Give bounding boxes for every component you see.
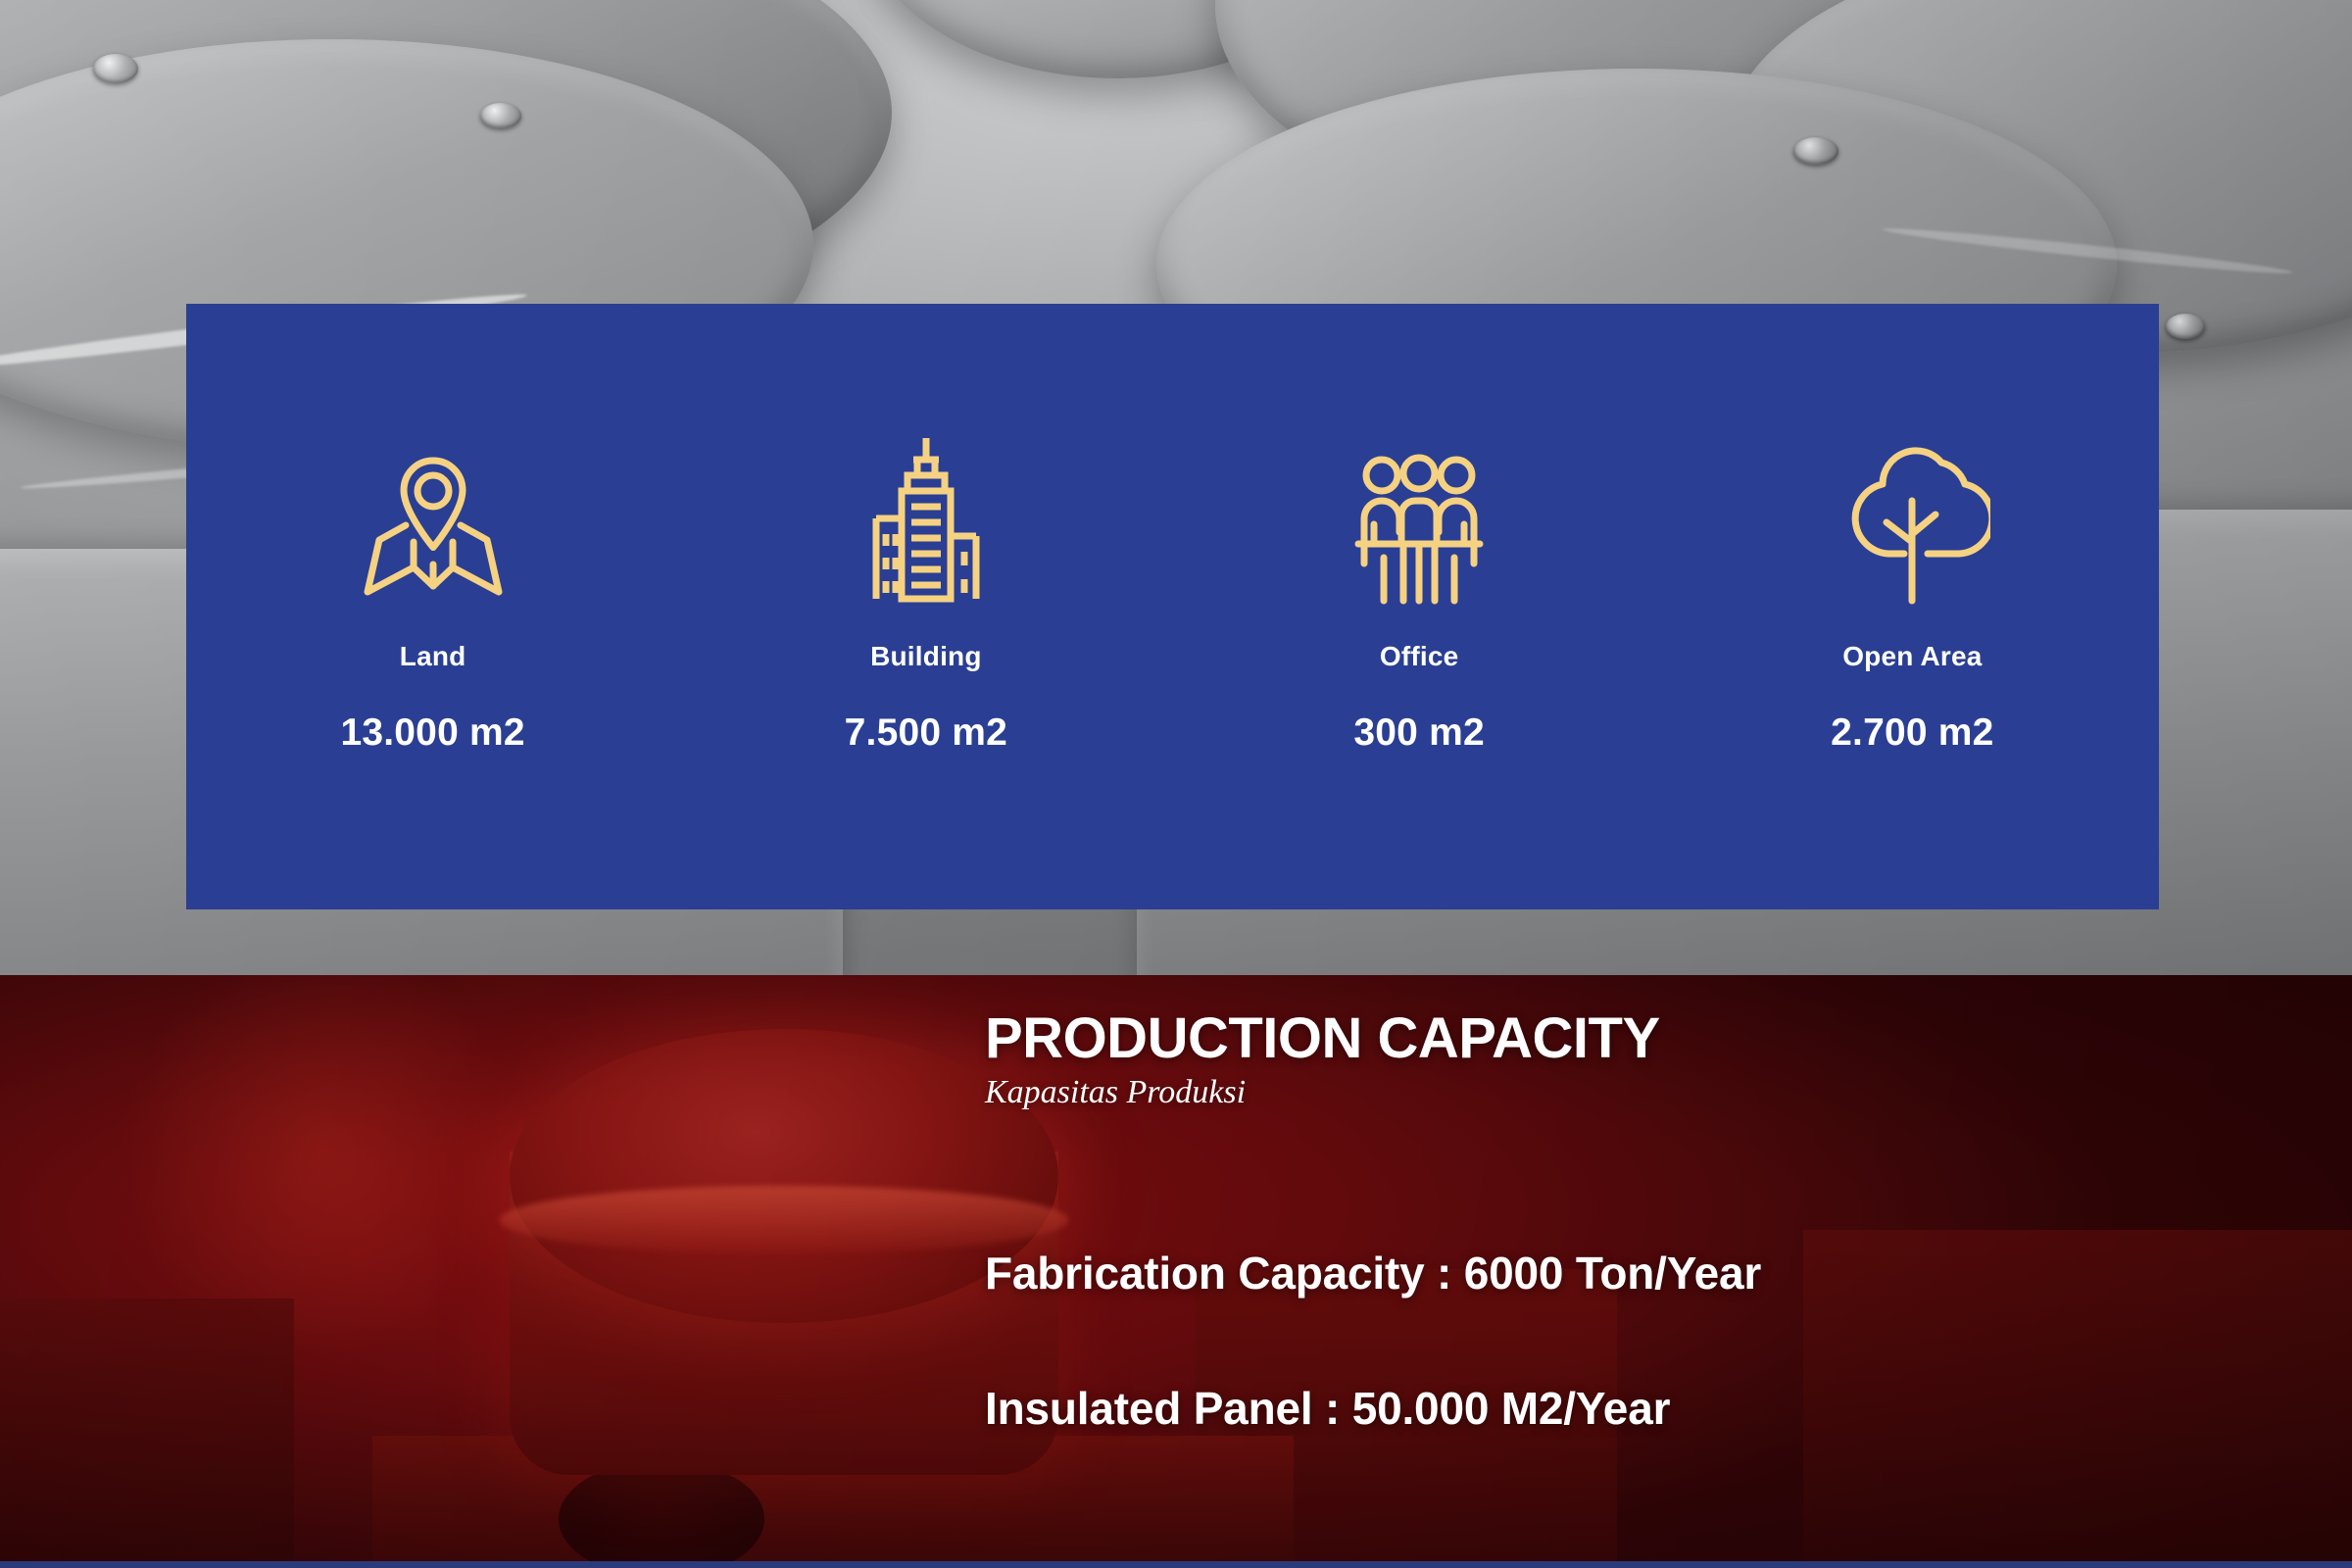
map-pin-location-icon bbox=[345, 419, 521, 606]
stat-column-open-area: Open Area 2.700 m2 bbox=[1666, 304, 2159, 755]
facility-stats-panel: Land 13.000 m2 bbox=[186, 304, 2159, 909]
stat-column-building: Building 7.500 m2 bbox=[679, 304, 1172, 755]
fabrication-capacity-line: Fabrication Capacity : 6000 Ton/Year bbox=[985, 1247, 1761, 1299]
building-skyscraper-icon bbox=[838, 419, 1014, 606]
production-capacity-heading-block: PRODUCTION CAPACITY Kapasitas Produksi bbox=[985, 1009, 2318, 1111]
page-title: PRODUCTION CAPACITY bbox=[985, 1009, 2318, 1068]
stat-label: Land bbox=[400, 641, 466, 672]
stat-value: 300 m2 bbox=[1353, 711, 1484, 755]
stat-label: Building bbox=[870, 641, 982, 672]
stat-value: 2.700 m2 bbox=[1831, 711, 1993, 755]
page-subtitle: Kapasitas Produksi bbox=[985, 1074, 2318, 1110]
office-people-meeting-icon bbox=[1331, 419, 1507, 606]
stat-column-office: Office 300 m2 bbox=[1173, 304, 1666, 755]
stat-value: 7.500 m2 bbox=[845, 711, 1007, 755]
stat-column-land: Land 13.000 m2 bbox=[186, 304, 679, 755]
footer-accent-strip bbox=[0, 1561, 2352, 1568]
insulated-panel-capacity-line: Insulated Panel : 50.000 M2/Year bbox=[985, 1382, 1670, 1435]
tree-open-area-icon bbox=[1824, 419, 2000, 606]
slide-root: Land 13.000 m2 bbox=[0, 0, 2352, 1568]
stat-label: Open Area bbox=[1842, 641, 1982, 672]
stat-value: 13.000 m2 bbox=[340, 711, 524, 755]
stat-label: Office bbox=[1380, 641, 1459, 672]
